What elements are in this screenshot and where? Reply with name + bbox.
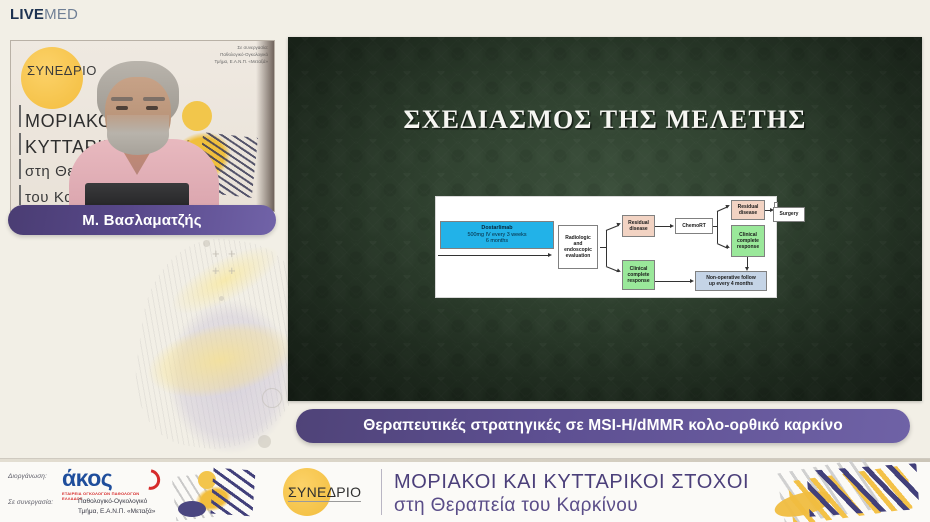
footer-vertical-divider bbox=[381, 469, 382, 515]
slide-title: ΣΧΕΔΙΑΣΜΟΣ ΤΗΣ ΜΕΛΕΤΗΣ bbox=[288, 105, 922, 135]
event-headline: ΜΟΡΙΑΚΟΙ ΚΑΙ ΚΥΤΤΑΡΙΚΟΙ ΣΤΟΧΟΙ στη Θεραπ… bbox=[394, 471, 749, 517]
flow-arrow-entry bbox=[548, 253, 552, 257]
cooperation-text: Παθολογικό-Ογκολογικό Τμήμα, Ε.Α.Ν.Π. «Μ… bbox=[78, 497, 155, 517]
event-headline-line-2: στη Θεραπεία του Καρκίνου bbox=[394, 495, 749, 518]
flow-node-evaluation: Radiologic and endoscopic evaluation bbox=[558, 225, 598, 269]
akos-logo: άκος ΕΤΑΙΡΕΙΑ ΟΓΚΟΛΟΓΩΝ ΠΑΘΟΛΟΓΩΝ ΕΛΛΑΔΟ… bbox=[62, 467, 158, 501]
speaker-video-feed[interactable]: ΣΥΝΕΔΡΙΟ Σε συνεργασία: Παθολογικό-Ογκολ… bbox=[10, 40, 275, 212]
flow-line-ccr1-to-followup bbox=[655, 281, 691, 282]
footer-organizer-labels: Διοργάνωση: Σε συνεργασία: bbox=[8, 473, 53, 506]
brand-med-text: MED bbox=[44, 6, 78, 23]
flow-line-entry bbox=[438, 255, 550, 256]
background-dot bbox=[258, 435, 271, 448]
session-topic-text: Θεραπευτικές στρατηγικές σε MSI-H/dMMR κ… bbox=[363, 417, 843, 435]
flow-node-surgery: Surgery bbox=[773, 207, 805, 222]
background-plus-icon: + bbox=[228, 247, 236, 260]
flow-arrow-ccr2 bbox=[725, 244, 730, 249]
flow-arrow-residual2 bbox=[725, 203, 730, 208]
brand-live-text: LIVE bbox=[10, 6, 44, 23]
background-ring bbox=[262, 388, 282, 408]
poster-divider bbox=[19, 159, 21, 179]
event-footer: Διοργάνωση: Σε συνεργασία: άκος ΕΤΑΙΡΕΙΑ… bbox=[0, 458, 930, 522]
background-plus-icon: + bbox=[228, 264, 236, 277]
flow-node-dostarlimab: Dostarlimab 500mg IV every 3 weeks 6 mon… bbox=[440, 221, 554, 249]
livemed-logo: LIVEMED bbox=[10, 6, 78, 23]
poster-divider bbox=[19, 105, 21, 127]
cooperation-line-2: Τμήμα, Ε.Α.Ν.Π. «Μεταξά» bbox=[78, 507, 155, 517]
flow-arrow-ccr1 bbox=[616, 268, 621, 273]
background-plus-icon: + bbox=[212, 247, 220, 260]
flow-node-clinical-complete-response-1: Clinical complete response bbox=[622, 260, 655, 290]
poster-divider bbox=[19, 185, 21, 205]
flow-node-chemort: ChemoRT bbox=[675, 218, 713, 234]
flow-arrow-chemort bbox=[670, 224, 674, 228]
flow-line-chemort-bar bbox=[717, 211, 718, 243]
flow-node-residual-disease-2: Residual disease bbox=[731, 200, 765, 220]
study-design-flowchart: Dostarlimab 500mg IV every 3 weeks 6 mon… bbox=[435, 196, 777, 298]
speaker-name-badge: Μ. Βασλαματζής bbox=[8, 205, 276, 235]
flow-arrow-residual1 bbox=[616, 221, 621, 226]
event-headline-line-1: ΜΟΡΙΑΚΟΙ ΚΑΙ ΚΥΤΤΑΡΙΚΟΙ ΣΤΟΧΟΙ bbox=[394, 471, 749, 495]
video-edge-shadow bbox=[256, 41, 274, 211]
flow-node-residual-disease-1: Residual disease bbox=[622, 215, 655, 237]
footer-brush-artwork-right bbox=[750, 459, 928, 522]
flow-line-residual-to-chemort bbox=[655, 226, 671, 227]
background-plus-icon: + bbox=[212, 264, 220, 277]
flow-node-non-operative-followup: Non-operative follow up every 4 months bbox=[695, 271, 767, 291]
cooperation-line-1: Παθολογικό-Ογκολογικό bbox=[78, 497, 155, 507]
flow-line-branch-bar bbox=[606, 230, 607, 266]
organizer-label: Διοργάνωση: bbox=[8, 473, 53, 480]
background-dot bbox=[203, 240, 210, 247]
flow-node-clinical-complete-response-2: Clinical complete response bbox=[731, 225, 765, 257]
speaker-name-text: Μ. Βασλαματζής bbox=[82, 212, 202, 229]
video-player-stage: + + + + LIVEMED ΣΥΝΕΔΡΙΟ Σε συνεργασία: … bbox=[0, 0, 930, 522]
session-topic-banner: Θεραπευτικές στρατηγικές σε MSI-H/dMMR κ… bbox=[296, 409, 910, 443]
background-dot bbox=[219, 296, 224, 301]
synedrio-wordmark: ΣΥΝΕΔΡΙΟ bbox=[288, 484, 361, 502]
footer-brush-artwork-left bbox=[168, 461, 260, 522]
poster-divider bbox=[19, 133, 21, 155]
flow-arrow-ccr1-followup bbox=[690, 279, 694, 283]
cooperation-label: Σε συνεργασία: bbox=[8, 499, 53, 506]
presentation-slide[interactable]: ΣΧΕΔΙΑΣΜΟΣ ΤΗΣ ΜΕΛΕΤΗΣ Dostarlimab 500mg… bbox=[288, 37, 922, 401]
